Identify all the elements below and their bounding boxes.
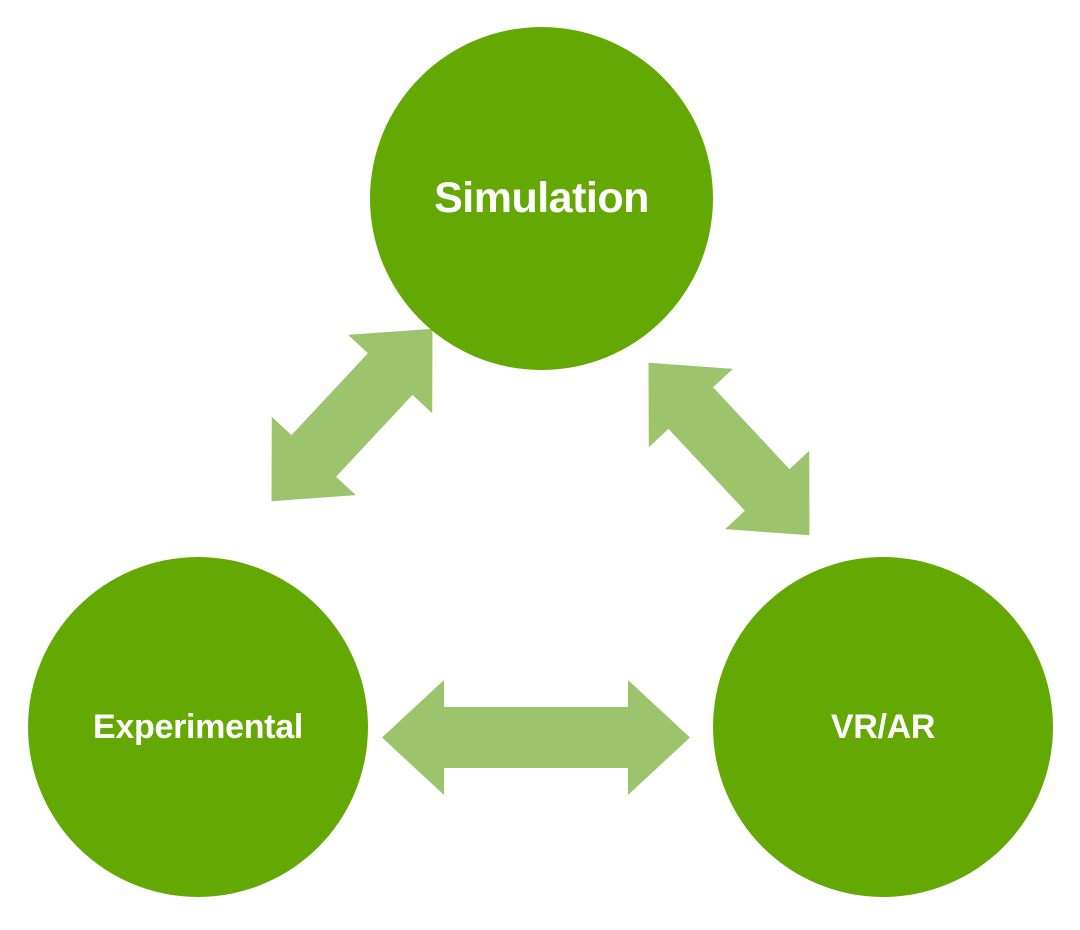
node-experimental[interactable]: Experimental: [28, 557, 368, 897]
node-experimental-label: Experimental: [93, 710, 303, 744]
node-simulation-label: Simulation: [434, 177, 649, 220]
node-vrar[interactable]: VR/AR: [713, 557, 1053, 897]
connector-experimental-vrar-double-headed-arrow-icon: [382, 680, 690, 795]
node-vrar-label: VR/AR: [831, 710, 935, 744]
triad-diagram: Simulation Experimental VR/AR: [0, 0, 1080, 930]
connector-simulation-vrar-double-headed-arrow-icon: [606, 323, 851, 574]
node-simulation[interactable]: Simulation: [370, 27, 713, 370]
